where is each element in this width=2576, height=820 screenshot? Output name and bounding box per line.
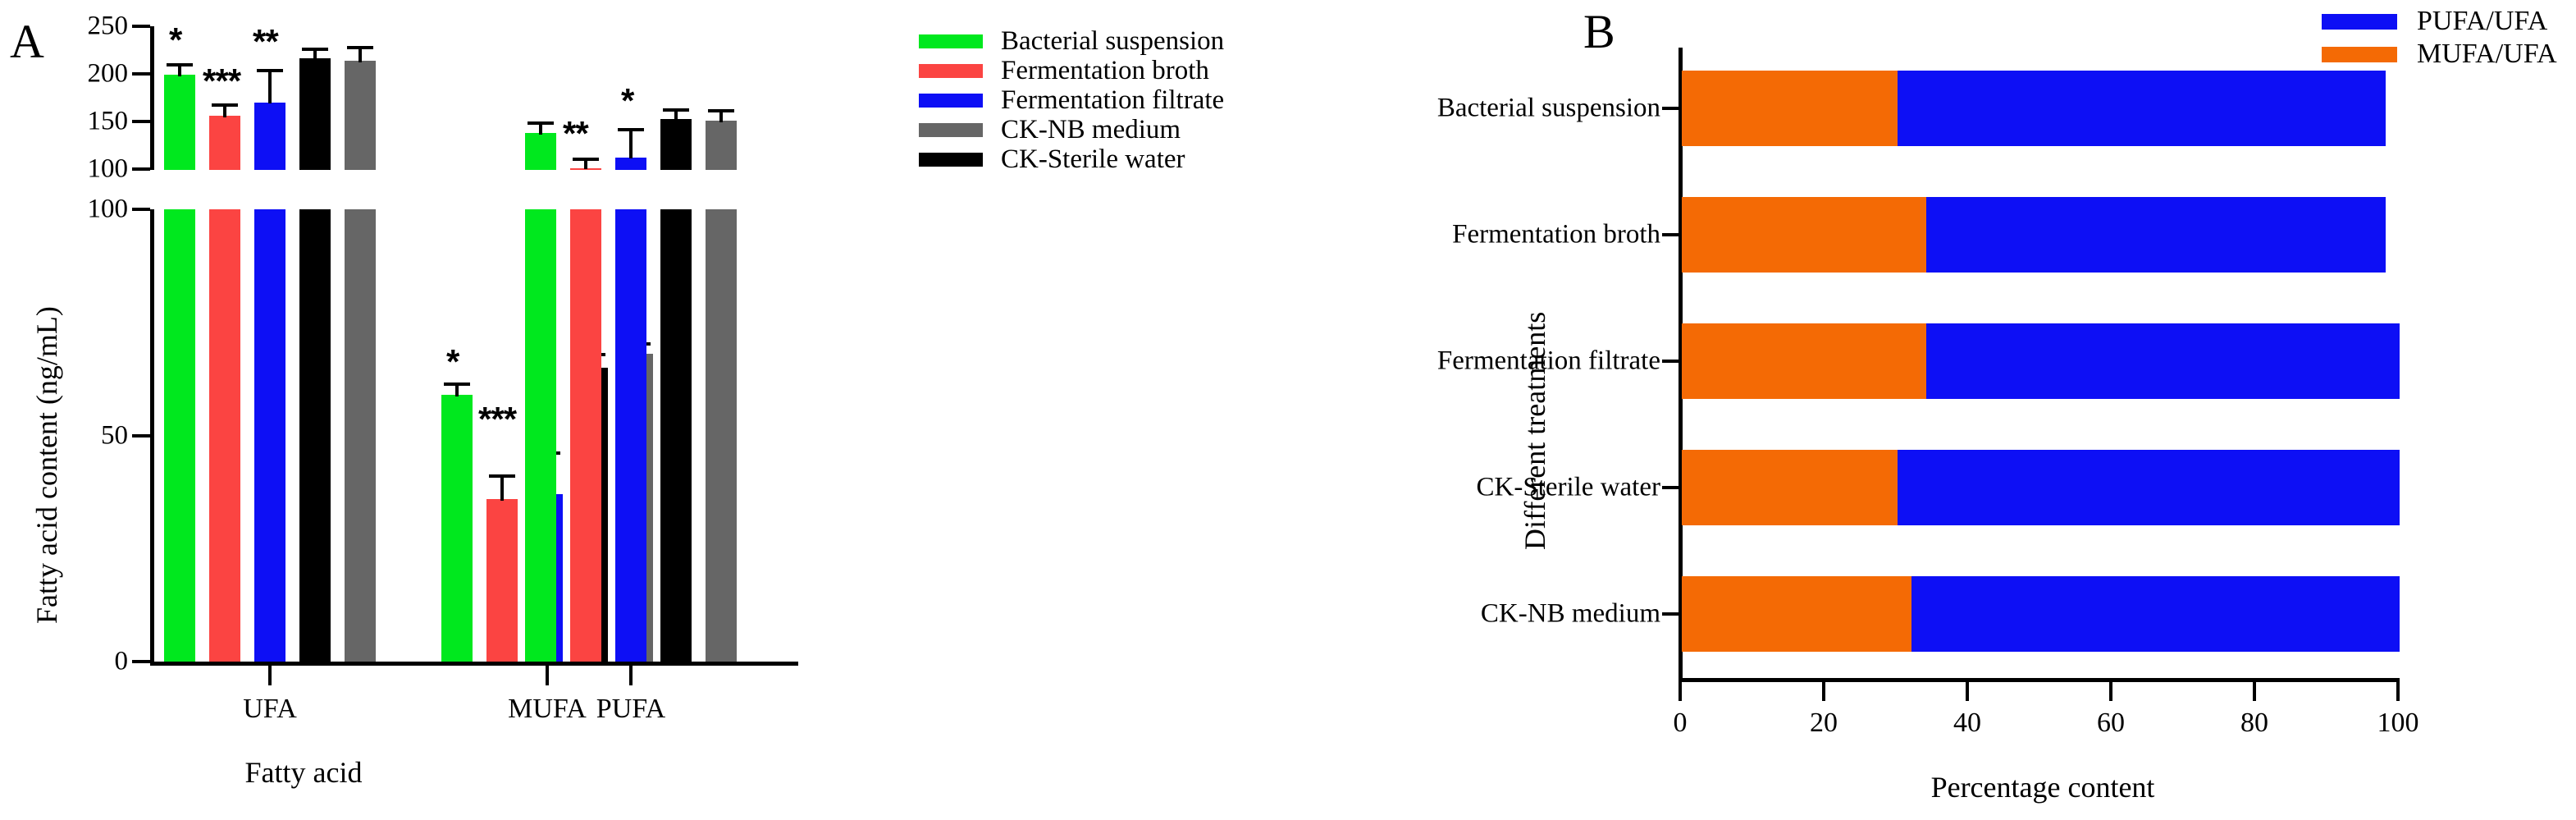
legend-item-mufa-ufa[interactable]: MUFA/UFA [2322,38,2557,71]
bar-ufa-bacterial-suspension-lower [164,209,195,662]
bar-mufa-fermentation-broth [486,499,518,662]
legend-item-fermentation-broth[interactable]: Fermentation broth [919,56,1224,85]
panel-b-x-axis-title: Percentage content [1931,770,2155,804]
segment-mufa-fermentation-broth [1682,197,1926,273]
x-tick-mark-mufa [546,664,549,685]
bar-mufa-bacterial-suspension [441,395,473,662]
panel-a: A Fatty acid content (ng/mL) 250 200 150… [0,0,1345,820]
legend-label-fermentation-filtrate: Fermentation filtrate [1001,87,1224,114]
x-tick-mark-60 [2109,680,2112,701]
segment-mufa-ck-nb-medium [1682,576,1911,652]
bar-ufa-fermentation-filtrate-lower [254,209,285,662]
row-label-fermentation-filtrate: Fermentation filtrate [1437,346,1682,377]
table-row: Fermentation filtrate [1682,323,2400,399]
x-tick-label-100: 100 [2377,708,2419,739]
legend-item-pufa-ufa[interactable]: PUFA/UFA [2322,5,2557,38]
bar-pufa-ck-sterile-water-lower [660,209,692,662]
panel-b: B Different treatments Bacterial suspens… [1345,0,2576,820]
bar-pufa-ck-nb-medium-lower [706,209,737,662]
panel-b-plot: Bacterial suspension Fermentation broth … [1682,48,2400,681]
x-tick-label-60: 60 [2097,708,2125,739]
segment-mufa-fermentation-filtrate [1682,323,1926,399]
table-row: CK-NB medium [1682,576,2400,652]
y-tick-label-0: 0 [115,647,129,677]
x-tick-mark-0 [1679,680,1682,701]
bar-pufa-fermentation-filtrate-lower [615,209,646,662]
panel-a-legend: Bacterial suspension Fermentation broth … [919,26,1224,174]
table-row: CK-Sterile water [1682,450,2400,525]
legend-label-ck-nb-medium: CK-NB medium [1001,117,1181,144]
x-tick-mark-ufa [268,664,272,685]
legend-swatch-ck-sterile-water [919,153,983,167]
bar-pufa-fermentation-broth-lower [570,209,601,662]
legend-item-ck-sterile-water[interactable]: CK-Sterile water [919,144,1224,174]
panel-b-legend: PUFA/UFA MUFA/UFA [2322,5,2557,71]
x-tick-mark-80 [2253,680,2256,701]
legend-label-fermentation-broth: Fermentation broth [1001,57,1209,85]
row-label-fermentation-broth: Fermentation broth [1452,220,1682,250]
significance-mufa-bacterial-suspension: * [446,345,459,379]
segment-pufa-fermentation-broth [1926,197,2386,273]
legend-item-ck-nb-medium[interactable]: CK-NB medium [919,115,1224,144]
x-tick-label-pufa: PUFA [596,694,665,725]
segment-pufa-ck-sterile-water [1898,450,2400,525]
x-tick-label-ufa: UFA [243,694,297,725]
table-row: Fermentation broth [1682,197,2400,273]
x-tick-mark-pufa [629,664,633,685]
x-tick-mark-20 [1822,680,1825,701]
panel-a-lower-subplot: 100 50 0 [0,0,820,681]
x-tick-label-40: 40 [1953,708,1981,739]
legend-swatch-pufa-ufa [2322,14,2397,30]
segment-mufa-ck-sterile-water [1682,450,1898,525]
legend-swatch-fermentation-filtrate [919,94,983,108]
panel-b-x-axis [1679,678,2400,682]
y-tick-label-50: 50 [101,421,128,451]
panel-b-letter: B [1583,8,1615,56]
legend-swatch-mufa-ufa [2322,47,2397,62]
legend-swatch-ck-nb-medium [919,123,983,137]
legend-label-mufa-ufa: MUFA/UFA [2417,40,2557,68]
figure-root: A Fatty acid content (ng/mL) 250 200 150… [0,0,2576,820]
errorbar-mufa-bacterial-suspension [455,384,459,396]
legend-label-pufa-ufa: PUFA/UFA [2417,7,2547,35]
x-tick-mark-40 [1966,680,1969,701]
legend-swatch-bacterial-suspension [919,34,983,48]
legend-item-bacterial-suspension[interactable]: Bacterial suspension [919,26,1224,56]
table-row: Bacterial suspension [1682,71,2400,146]
legend-label-ck-sterile-water: CK-Sterile water [1001,146,1185,173]
segment-pufa-bacterial-suspension [1898,71,2386,146]
segment-pufa-ck-nb-medium [1911,576,2400,652]
x-tick-label-20: 20 [1810,708,1838,739]
row-label-ck-nb-medium: CK-NB medium [1481,599,1682,630]
y-tick-label-100-lower: 100 [88,195,129,225]
row-label-bacterial-suspension: Bacterial suspension [1437,94,1682,124]
y-tick-mark-50 [132,434,150,437]
segment-pufa-fermentation-filtrate [1926,323,2400,399]
legend-swatch-fermentation-broth [919,64,983,78]
x-tick-label-80: 80 [2240,708,2268,739]
row-label-ck-sterile-water: CK-Sterile water [1476,473,1682,503]
bar-ufa-ck-sterile-water-lower [299,209,331,662]
errorcap-mufa-fermentation-broth [489,474,515,478]
significance-mufa-fermentation-broth: *** [478,402,516,437]
errorcap-mufa-bacterial-suspension [444,383,470,386]
panel-a-x-axis-title: Fatty acid [245,755,363,790]
x-tick-label-0: 0 [1674,708,1688,739]
bar-ufa-ck-nb-medium-lower [345,209,376,662]
bar-ufa-fermentation-broth-lower [209,209,240,662]
legend-item-fermentation-filtrate[interactable]: Fermentation filtrate [919,85,1224,115]
legend-label-bacterial-suspension: Bacterial suspension [1001,28,1224,55]
segment-mufa-bacterial-suspension [1682,71,1898,146]
y-tick-mark-100-lower [132,208,150,211]
x-tick-mark-100 [2396,680,2400,701]
y-tick-mark-0 [132,660,150,663]
x-tick-label-mufa: MUFA [508,694,587,725]
panel-a-x-axis [150,662,798,666]
bar-pufa-bacterial-suspension-lower [525,209,556,662]
panel-a-lower-y-axis [150,209,154,665]
errorbar-mufa-fermentation-broth [500,476,504,501]
